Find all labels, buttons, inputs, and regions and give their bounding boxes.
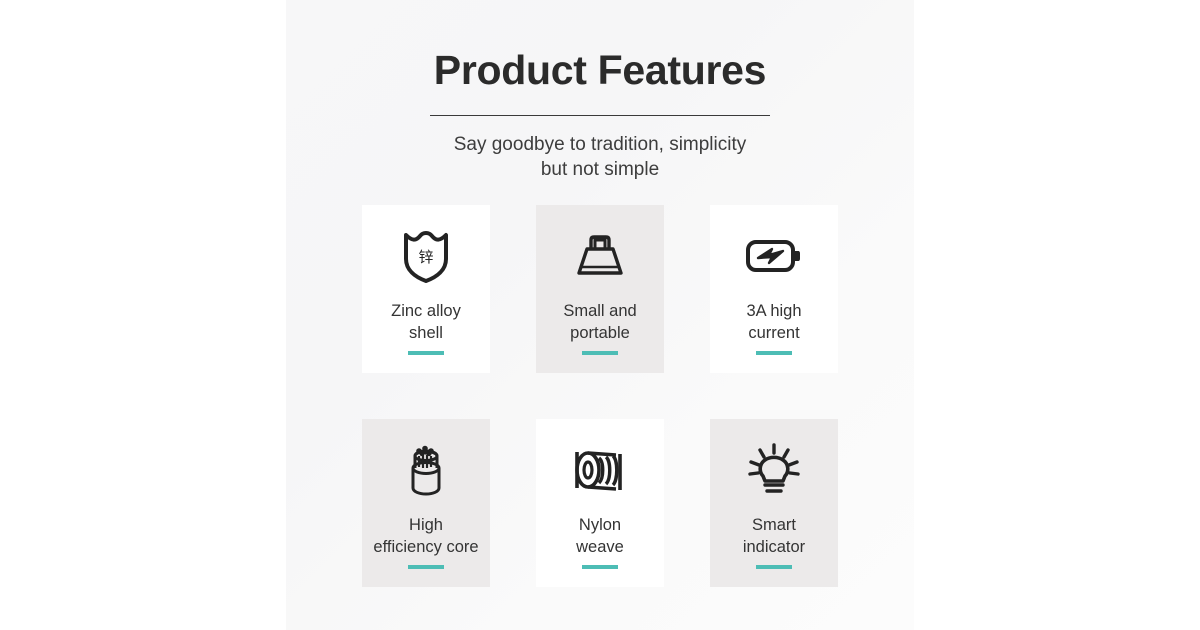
content-panel: Product Features Say goodbye to traditio… <box>286 0 914 630</box>
feature-card-zinc-alloy-shell[interactable]: 锌 Zinc alloy shell <box>362 205 490 373</box>
accent-underline <box>582 351 618 355</box>
cable-core-icon <box>395 441 457 499</box>
page-subtitle-line-1: Say goodbye to tradition, simplicity <box>286 133 914 158</box>
page-subtitle: Say goodbye to tradition, simplicity but… <box>286 133 914 182</box>
feature-label-line-2: current <box>712 323 836 345</box>
coiled-cable-icon <box>569 441 631 499</box>
feature-label-line-2: shell <box>364 323 488 345</box>
page-title: Product Features <box>286 48 914 93</box>
feature-label-line-1: Small and <box>538 301 662 323</box>
feature-label: Nylon weave <box>538 515 662 559</box>
accent-underline <box>756 351 792 355</box>
accent-underline <box>582 565 618 569</box>
battery-bolt-icon <box>743 227 805 285</box>
feature-card-smart-indicator[interactable]: Smart indicator <box>710 419 838 587</box>
feature-label: Smart indicator <box>712 515 836 559</box>
feature-label-line-1: Zinc alloy <box>364 301 488 323</box>
accent-underline <box>408 351 444 355</box>
feature-label-line-2: weave <box>538 537 662 559</box>
feature-label-line-1: High <box>364 515 488 537</box>
feature-card-high-efficiency-core[interactable]: High efficiency core <box>362 419 490 587</box>
product-features-infographic: Product Features Say goodbye to traditio… <box>0 0 1200 630</box>
zinc-character: 锌 <box>418 248 433 266</box>
feature-label-line-2: portable <box>538 323 662 345</box>
feature-row-2: High efficiency core <box>362 419 838 587</box>
feature-label-line-1: Smart <box>712 515 836 537</box>
header: Product Features Say goodbye to traditio… <box>286 0 914 182</box>
accent-underline <box>756 565 792 569</box>
feature-card-3a-high-current[interactable]: 3A high current <box>710 205 838 373</box>
feature-label: Small and portable <box>538 301 662 345</box>
feature-label-line-2: efficiency core <box>364 537 488 559</box>
feature-label: 3A high current <box>712 301 836 345</box>
feature-label-line-2: indicator <box>712 537 836 559</box>
bag-icon <box>569 227 631 285</box>
feature-label-line-1: Nylon <box>538 515 662 537</box>
accent-underline <box>408 565 444 569</box>
page-subtitle-line-2: but not simple <box>286 158 914 183</box>
feature-label: High efficiency core <box>364 515 488 559</box>
lightbulb-icon <box>743 441 805 499</box>
feature-label: Zinc alloy shell <box>364 301 488 345</box>
title-divider <box>430 115 770 116</box>
feature-card-small-and-portable[interactable]: Small and portable <box>536 205 664 373</box>
feature-grid: 锌 Zinc alloy shell <box>286 205 914 587</box>
feature-row-1: 锌 Zinc alloy shell <box>362 205 838 373</box>
feature-card-nylon-weave[interactable]: Nylon weave <box>536 419 664 587</box>
feature-label-line-1: 3A high <box>712 301 836 323</box>
shield-icon: 锌 <box>395 227 457 285</box>
